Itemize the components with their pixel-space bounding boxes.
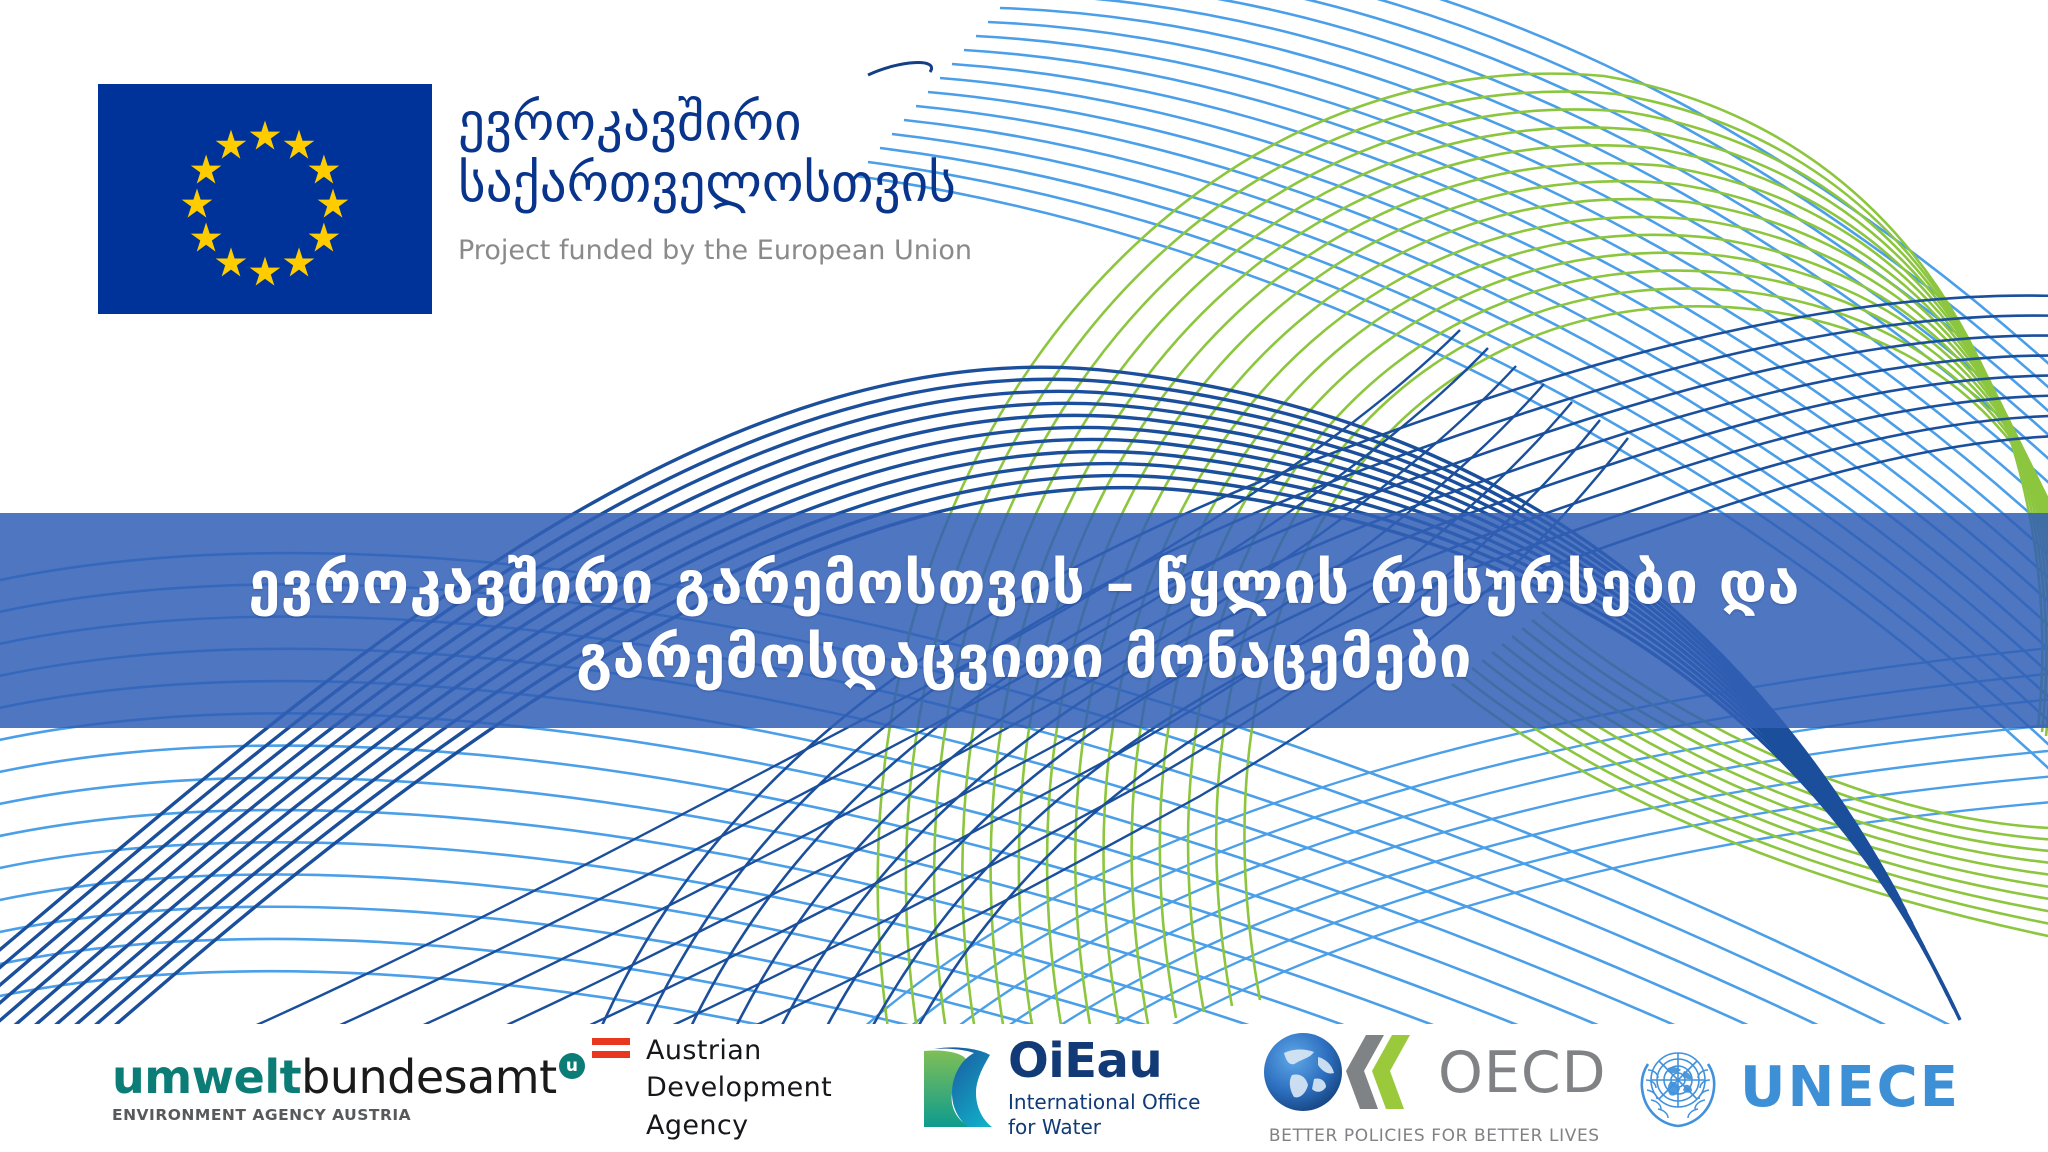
logo-austrian-development-agency: Austrian Development Agency [592, 1032, 922, 1144]
unece-name: UNECE [1740, 1060, 1960, 1116]
oieau-sub-line1: International Office [1008, 1090, 1200, 1114]
ada-line2: Development [646, 1069, 832, 1106]
slide-title-line1: ევროკავშირი გარემოსთვის – წყლის რესურსებ… [248, 547, 1800, 620]
slide-title: ევროკავშირი გარემოსთვის – წყლის რესურსებ… [0, 513, 2048, 728]
logo-oecd: OECD BETTER POLICIES FOR BETTER LIVES [1262, 1031, 1632, 1146]
slide-title-line2: გარემოსდაცვითი მონაცემები [576, 621, 1472, 694]
eu-logo-text-block: ევროკავშირი საქართველოსთვის Project fund… [458, 84, 972, 266]
uba-name-light: bundesamt [301, 1050, 557, 1104]
uba-name-bold: umwelt [112, 1050, 301, 1104]
presentation-slide: ევროკავშირი საქართველოსთვის Project fund… [0, 0, 2048, 1152]
logo-umweltbundesamt: umweltbundesamtu ENVIRONMENT AGENCY AUST… [112, 1053, 592, 1124]
oieau-river-mark-icon [922, 1043, 994, 1133]
partner-logo-footer: umweltbundesamtu ENVIRONMENT AGENCY AUST… [0, 1024, 2048, 1152]
eu-flag-icon [98, 84, 432, 314]
eu-funding-logo: ევროკავშირი საქართველოსთვის Project fund… [98, 84, 972, 314]
wave-accent-arc [868, 63, 932, 75]
oecd-chevrons-icon [1344, 1031, 1430, 1117]
eu-logo-title-line1: ევროკავშირი [458, 92, 972, 153]
oecd-name: OECD [1438, 1045, 1607, 1102]
oecd-tagline: BETTER POLICIES FOR BETTER LIVES [1262, 1126, 1607, 1146]
oieau-sub-line2: for Water [1008, 1115, 1200, 1139]
uba-tagline: ENVIRONMENT AGENCY AUSTRIA [112, 1108, 585, 1124]
ada-line3: Agency [646, 1107, 832, 1144]
oieau-name: OiEau [1008, 1037, 1200, 1085]
eu-logo-subtitle: Project funded by the European Union [458, 235, 972, 266]
oecd-globe-icon [1262, 1031, 1344, 1117]
eu-logo-title-line2: საქართველოსთვის [458, 153, 972, 214]
logo-unece: UNECE [1632, 1040, 1972, 1136]
ada-line1: Austrian [646, 1032, 832, 1069]
logo-oieau: OiEau International Office for Water [922, 1037, 1262, 1139]
un-emblem-icon [1632, 1040, 1724, 1136]
uba-superscript-icon: u [559, 1053, 585, 1079]
austria-flag-icon [592, 1038, 630, 1058]
